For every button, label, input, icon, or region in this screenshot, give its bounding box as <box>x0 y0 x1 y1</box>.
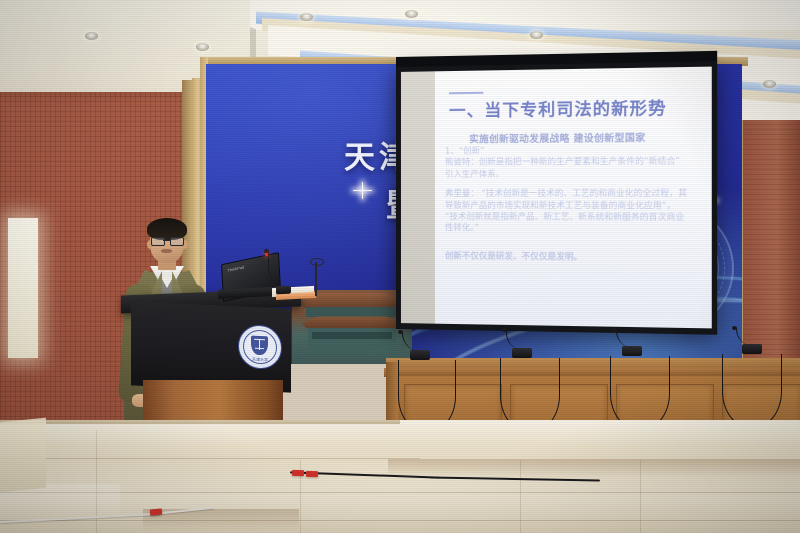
slide-surface: 一、当下专利司法的新形势 实施创新驱动发展战略 建设创新型国家 1、“创新” 熊… <box>435 67 712 329</box>
slide-body-line: 导致新产品的市场实现和新技术工艺与装备的商业化应用”， <box>445 200 712 212</box>
podium-emblem-caption: 天津大学 <box>247 356 273 363</box>
desk-mic-head <box>612 328 617 332</box>
downlight-icon <box>530 31 543 39</box>
desk-mic-head <box>732 326 737 330</box>
podium-mic-indicator-led <box>265 253 268 256</box>
accessory-stand <box>315 262 317 296</box>
projection-screen: 一、当下专利司法的新形势 实施创新驱动发展战略 建设创新型国家 1、“创新” 熊… <box>396 60 717 335</box>
screen-left-margin <box>401 71 435 323</box>
cable-tape-marker <box>306 471 318 477</box>
slide-title: 一、当下专利司法的新形势 <box>449 94 710 122</box>
slide-body-line: 弗里曼： “技术创新是一技术的、工艺的和商业化的全过程，其 <box>445 188 712 200</box>
floor-light-reflection <box>0 418 46 493</box>
conference-photo-scene: 天津 暨 会 TIANJIN UNIVERSITY LAW SCHOOL <box>0 0 800 533</box>
speaker-mouth <box>161 249 172 253</box>
downlight-icon <box>763 80 776 88</box>
slide-closing-line: 创新不仅仅是研发、不仅仅是发明。 <box>445 250 712 264</box>
accessory-stand-ring <box>310 258 324 266</box>
podium-shield-icon <box>251 336 268 356</box>
banner-building-photo <box>292 290 412 364</box>
slide-body-line: 引入生产体系。 <box>445 168 712 181</box>
slide-body: 1、“创新” 熊彼特：创新是指把一种新的生产要素和生产条件的“新结合” 引入生产… <box>445 144 712 264</box>
laptop-brand-label: ThinkPad <box>227 264 244 273</box>
glasses-icon <box>151 237 183 244</box>
cable-tape-marker <box>150 508 163 515</box>
cable-tape-marker <box>292 470 304 476</box>
downlight-icon <box>405 10 418 18</box>
mic-cable <box>722 354 782 429</box>
slide-accent-rule <box>449 92 483 95</box>
downlight-icon <box>85 32 98 40</box>
downlight-icon <box>300 13 313 21</box>
desk-mic-head <box>502 328 507 332</box>
floor-step-edge <box>0 420 400 424</box>
downlight-icon <box>196 43 209 51</box>
slide-body-line: “技术创新就是指新产品、新工艺、新系统和新服务的首次商业 <box>445 211 712 223</box>
slide-body-line: 熊彼特：创新是指把一种新的生产要素和生产条件的“新结合” <box>445 156 712 169</box>
wall-light-panel <box>8 218 38 358</box>
desk-mic-head <box>398 330 403 334</box>
